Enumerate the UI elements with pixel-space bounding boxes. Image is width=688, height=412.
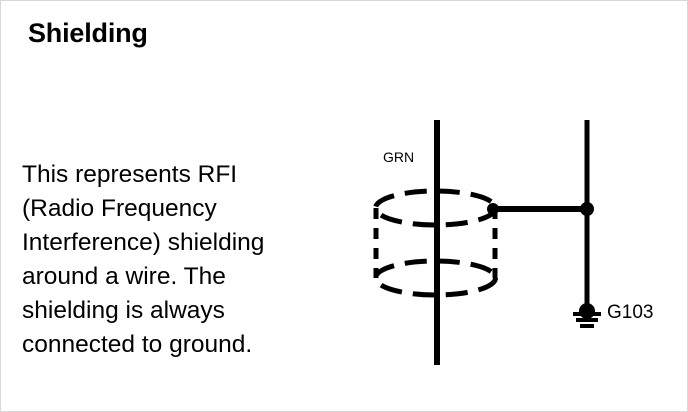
wire-color-label: GRN <box>383 149 414 165</box>
ground-wire-junction-dot <box>580 202 594 216</box>
ground-designator-label: G103 <box>607 302 653 324</box>
shielding-diagram: GRN G103 <box>1 1 688 412</box>
earth-ground-icon <box>573 303 601 328</box>
shielding-diagram-svg <box>1 1 688 412</box>
slide-canvas: Shielding This represents RFI (Radio Fre… <box>0 0 688 412</box>
shield-tap-junction-dot <box>487 203 499 215</box>
